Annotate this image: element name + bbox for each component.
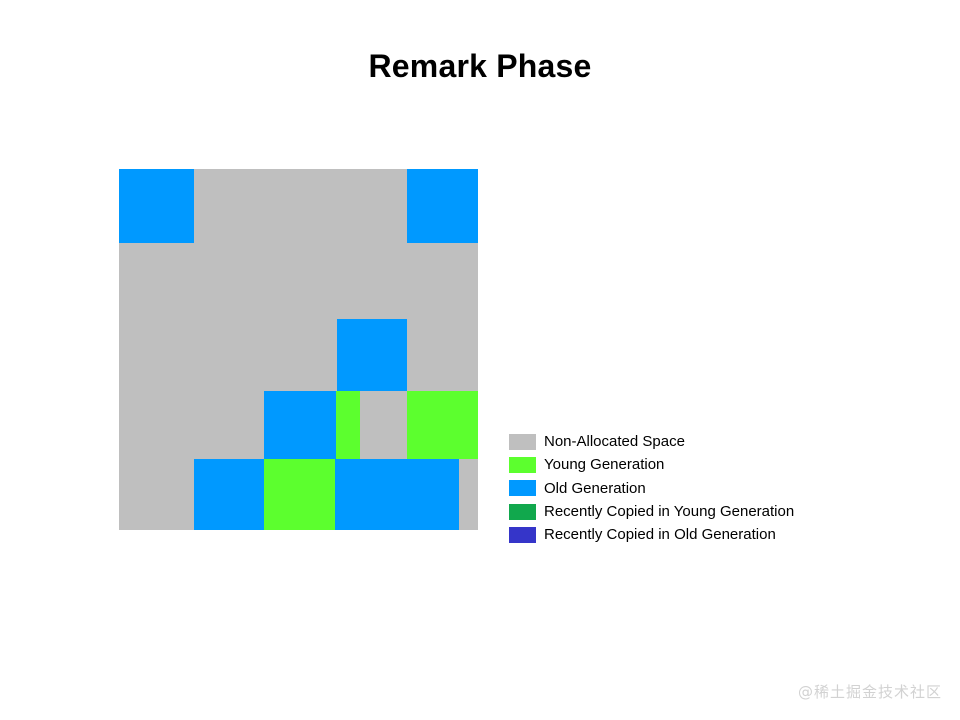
- legend-item-1: Young Generation: [509, 453, 849, 476]
- legend-item-4: Recently Copied in Old Generation: [509, 523, 849, 546]
- legend-swatch-young-generation: [509, 457, 536, 473]
- legend-label-4: Recently Copied in Old Generation: [544, 527, 776, 542]
- legend-label-2: Old Generation: [544, 481, 646, 496]
- slide-canvas: Remark Phase Non-Allocated SpaceYoung Ge…: [0, 0, 960, 720]
- legend-item-0: Non-Allocated Space: [509, 430, 849, 453]
- heap-block-old-gen-mid-left: [264, 391, 336, 459]
- heap-block-old-gen-bottom-left: [194, 459, 264, 530]
- legend-swatch-recently-copied-old: [509, 527, 536, 543]
- legend-label-1: Young Generation: [544, 457, 664, 472]
- legend-item-3: Recently Copied in Young Generation: [509, 500, 849, 523]
- legend-swatch-non-allocated-space: [509, 434, 536, 450]
- legend: Non-Allocated SpaceYoung GenerationOld G…: [509, 430, 849, 546]
- watermark: @稀土掘金技术社区: [798, 681, 942, 702]
- heap-block-old-gen-top-left: [119, 169, 194, 243]
- legend-item-2: Old Generation: [509, 477, 849, 500]
- legend-swatch-recently-copied-young: [509, 504, 536, 520]
- heap-block-young-gen-bottom-mid: [264, 459, 335, 530]
- heap-block-old-gen-top-right: [407, 169, 478, 243]
- legend-swatch-old-generation: [509, 480, 536, 496]
- heap-block-old-gen-bottom-right: [335, 459, 459, 530]
- heap-block-young-gen-mid-narrow: [336, 391, 360, 459]
- legend-label-0: Non-Allocated Space: [544, 434, 685, 449]
- heap-diagram: [119, 169, 478, 530]
- page-title: Remark Phase: [0, 48, 960, 85]
- heap-block-old-gen-mid-tower: [337, 319, 407, 391]
- heap-block-young-gen-mid-right: [407, 391, 478, 459]
- legend-label-3: Recently Copied in Young Generation: [544, 504, 794, 519]
